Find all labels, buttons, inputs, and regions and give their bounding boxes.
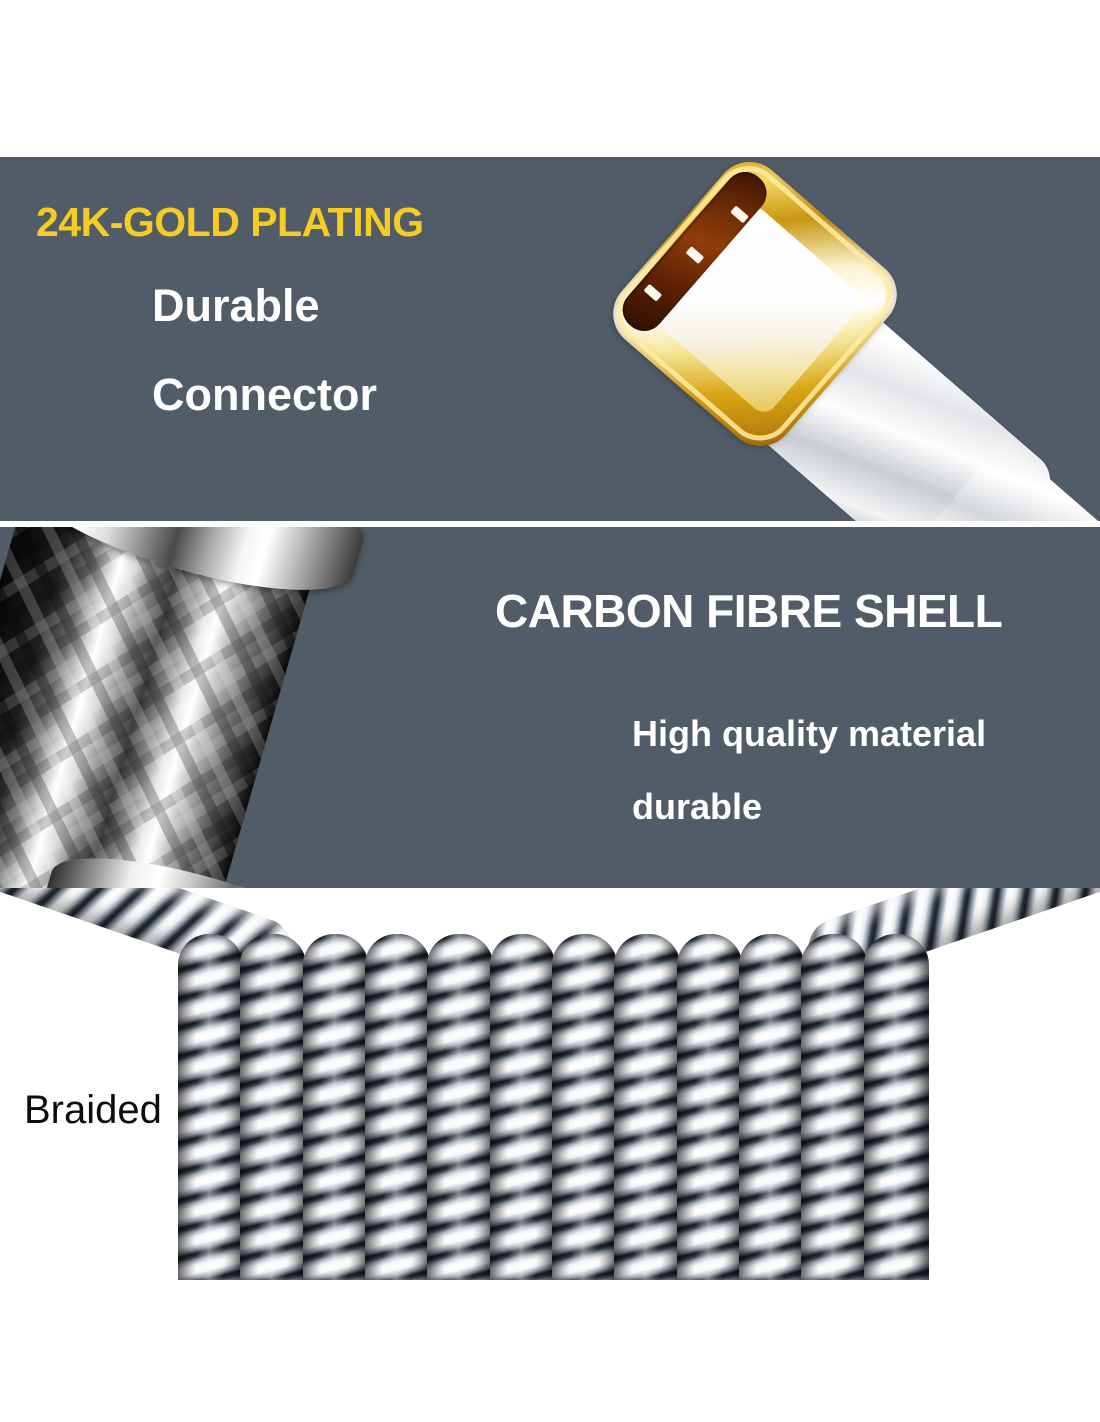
- cable-coil: [864, 934, 929, 1286]
- cable-coil: [552, 934, 617, 1286]
- section-gold-plating: 24K-GOLD PLATING Durable Connector: [0, 157, 1100, 521]
- coil-bottom-fade: [0, 1280, 1100, 1422]
- cable-coil: [801, 934, 866, 1286]
- cable-coil: [178, 934, 243, 1286]
- cable-coil: [739, 934, 804, 1286]
- usb-c-connector-icon: [600, 157, 1100, 521]
- cable-coil: [614, 934, 679, 1286]
- carbon-fibre-heading: CARBON FIBRE SHELL: [495, 584, 1002, 638]
- gold-text-block: 24K-GOLD PLATING Durable Connector: [0, 157, 600, 521]
- braided-cable-coil-icon: [178, 934, 926, 1286]
- product-infographic: 24K-GOLD PLATING Durable Connector: [0, 0, 1100, 1422]
- section-braided-cable: Braided: [0, 888, 1100, 1422]
- braided-label: Braided: [24, 1088, 162, 1133]
- cable-coil: [240, 934, 305, 1286]
- gold-plating-heading: 24K-GOLD PLATING: [36, 199, 424, 246]
- carbon-fibre-subheading-line1: High quality material: [632, 713, 986, 755]
- cable-coil: [365, 934, 430, 1286]
- cable-coil: [303, 934, 368, 1286]
- carbon-fibre-subheading-line2: durable: [632, 786, 762, 828]
- gold-plating-subheading-line2: Connector: [152, 369, 377, 421]
- cable-coil: [427, 934, 492, 1286]
- carbon-fibre-barrel-icon: [0, 527, 640, 888]
- gold-plating-subheading-line1: Durable: [152, 280, 320, 332]
- cable-coil: [677, 934, 742, 1286]
- cable-coil: [490, 934, 555, 1286]
- section-carbon-fibre: CARBON FIBRE SHELL High quality material…: [0, 527, 1100, 888]
